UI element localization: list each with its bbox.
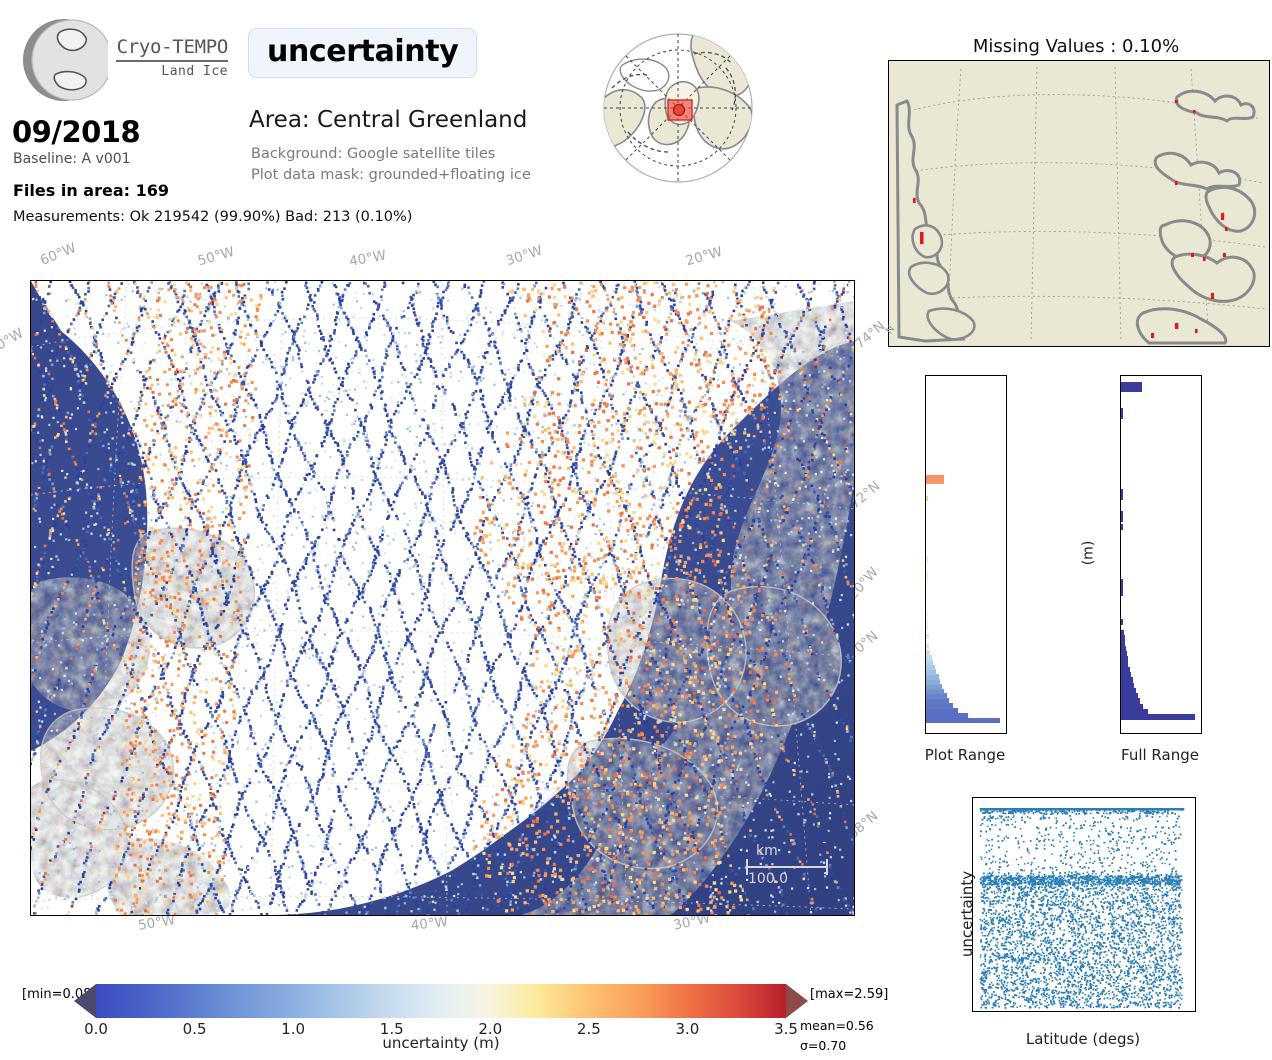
- scalebar-unit: km: [756, 843, 778, 859]
- full-range-histogram[interactable]: 0.00.51.01.52.02.5: [1120, 375, 1202, 734]
- colorbar-over-arrow: [786, 984, 808, 1018]
- files-in-area-label: Files in area: 169: [13, 181, 169, 200]
- histogram-tickmark: [925, 728, 926, 729]
- histogram-bar: [1121, 672, 1131, 678]
- colorbar[interactable]: 0.00.51.01.52.02.53.03.5: [96, 984, 786, 1018]
- map-lat-label-0: 74°N: [852, 318, 888, 352]
- histogram-bar: [1121, 524, 1123, 530]
- colorbar-under-arrow: [74, 984, 96, 1018]
- histogram-bar: [926, 650, 930, 656]
- histogram-bar: [1121, 516, 1123, 522]
- histogram-bar: [1121, 677, 1133, 683]
- histogram-bar: [1121, 585, 1123, 591]
- histogram-tickmark: [925, 390, 926, 391]
- histogram-bar: [1121, 495, 1123, 501]
- histogram-bar: [1121, 630, 1124, 636]
- missing-values-title: Missing Values : 0.10%: [886, 36, 1266, 57]
- histogram-bar: [1121, 579, 1123, 585]
- histogram-bar: [1121, 693, 1138, 699]
- histogram-bar: [926, 496, 928, 502]
- histogram-tickmark: [1120, 463, 1121, 464]
- background-source-label: Background: Google satellite tiles: [251, 146, 495, 162]
- histogram-bar: [1121, 688, 1136, 694]
- histogram-bar: [1121, 651, 1127, 657]
- histogram-bar: [1121, 667, 1130, 673]
- histogram-bar: [1121, 646, 1126, 652]
- globe-ice-logo-icon: [20, 16, 108, 104]
- histogram-bar: [1121, 704, 1143, 710]
- colorbar-mean-label: mean=0.56: [800, 1018, 874, 1033]
- map-scalebar: km 100.0: [744, 843, 824, 889]
- map-lon-label-bottom-1: 40°W: [410, 914, 449, 934]
- histogram-tickmark: [1120, 662, 1121, 663]
- histogram-tickmark: [1120, 397, 1121, 398]
- histogram-tickmark: [925, 487, 926, 488]
- main-map-plot[interactable]: [30, 280, 855, 916]
- plot-range-histogram-label: Plot Range: [905, 746, 1025, 764]
- histogram-bar: [1121, 382, 1142, 388]
- scatter-canvas: [973, 798, 1195, 1011]
- histogram-tickmark: [1120, 595, 1121, 596]
- area-label: Area: Central Greenland: [249, 107, 527, 133]
- histogram-bar: [1121, 640, 1125, 646]
- logo-divider: [116, 60, 228, 62]
- parameter-badge: uncertainty: [248, 28, 477, 78]
- histogram-bar: [1121, 656, 1128, 662]
- histogram-bar: [1121, 661, 1128, 667]
- plot-range-histogram[interactable]: 0.00.51.01.52.02.53.03.5: [925, 375, 1007, 734]
- arctic-locator-globe: [598, 28, 758, 188]
- histogram-tickmark: [1120, 529, 1121, 530]
- histogram-bar: [1121, 698, 1140, 704]
- full-range-histogram-label: Full Range: [1100, 746, 1220, 764]
- histogram-bar: [926, 611, 928, 617]
- app-logo: Cryo-TEMPO Land Ice: [8, 8, 223, 113]
- histogram-bar: [1121, 635, 1125, 641]
- data-mask-label: Plot data mask: grounded+floating ice: [251, 167, 531, 183]
- map-lon-label-top-3: 30°W: [504, 242, 544, 269]
- histogram-tickmark: [925, 583, 926, 584]
- scatter-xlabel: Latitude (degs): [972, 1030, 1194, 1048]
- map-lon-label-top-4: 20°W: [684, 244, 724, 270]
- scalebar-value: 100.0: [748, 871, 788, 887]
- logo-wordmark: Cryo-TEMPO Land Ice: [108, 38, 228, 79]
- histogram-bar: [1121, 408, 1123, 414]
- colorbar-axis-label: uncertainty (m): [96, 1034, 786, 1052]
- histogram-bar: [1121, 619, 1123, 625]
- date-label: 09/2018: [12, 115, 140, 149]
- colorbar-gradient: [96, 984, 786, 1018]
- histogram-tickmark: [1120, 728, 1121, 729]
- colorbar-max-label: [max=2.59]: [810, 987, 888, 1002]
- histogram-tickmark: [925, 439, 926, 440]
- map-lon-label-left: 60°W: [0, 325, 26, 357]
- histogram-bar: [1121, 714, 1195, 720]
- baseline-label: Baseline: A v001: [13, 151, 131, 167]
- logo-title: Cryo-TEMPO: [108, 38, 228, 57]
- scatter-ylabel: uncertainty: [958, 871, 976, 957]
- map-lon-label-top-0: 60°W: [38, 240, 79, 269]
- histogram-bar: [1121, 709, 1148, 715]
- histogram-bar: [1121, 683, 1134, 689]
- colorbar-sigma-label: σ=0.70: [800, 1038, 846, 1053]
- histogram-bar: [1121, 511, 1123, 517]
- map-lon-label-top-1: 50°W: [196, 244, 236, 270]
- histogram-bar: [926, 475, 944, 481]
- histogram-bar: [1121, 590, 1123, 596]
- histogram-bar: [926, 619, 928, 625]
- histogram-bar: [1121, 489, 1123, 495]
- measurements-label: Measurements: Ok 219542 (99.90%) Bad: 21…: [13, 209, 412, 225]
- logo-subtitle: Land Ice: [108, 64, 228, 79]
- uncertainty-latitude-scatter[interactable]: 0.00.51.01.52.02.570.072.575.0: [972, 797, 1196, 1012]
- histogram-tickmark: [925, 535, 926, 536]
- histogram-bar: [926, 571, 928, 577]
- histogram-bar: [926, 556, 928, 562]
- histogram-bar: [926, 643, 929, 649]
- histogram-tickmark: [925, 680, 926, 681]
- histogram-bar: [1121, 413, 1123, 419]
- full-range-histogram-ylabel: (m): [1080, 541, 1096, 566]
- histogram-bar: [926, 634, 929, 640]
- missing-values-map[interactable]: [888, 60, 1270, 347]
- map-lon-label-top-2: 40°W: [348, 248, 387, 270]
- histogram-tickmark: [925, 632, 926, 633]
